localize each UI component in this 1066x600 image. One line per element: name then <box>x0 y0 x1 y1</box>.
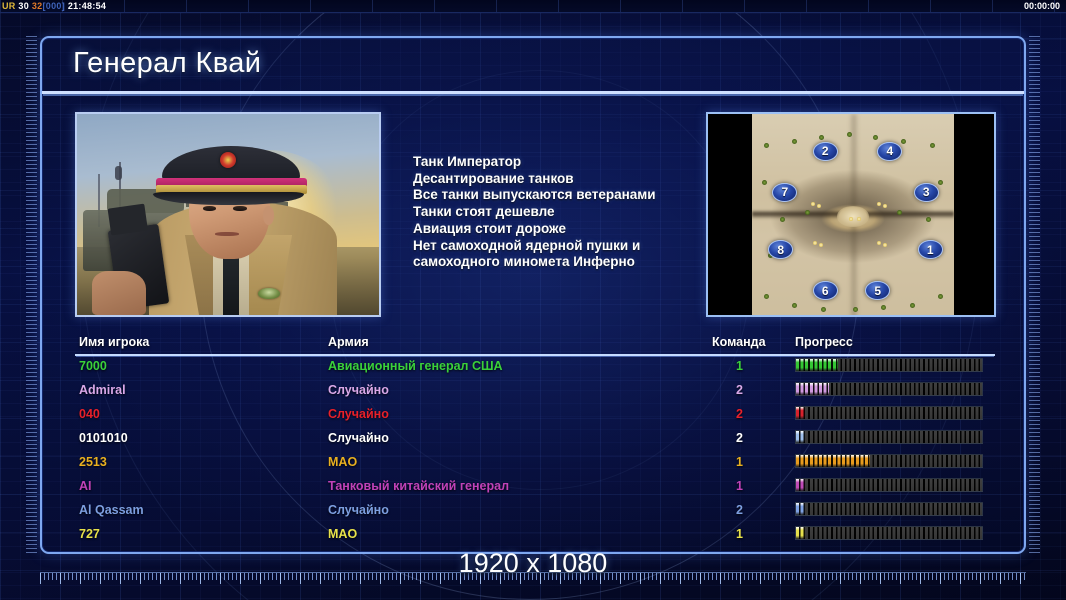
player-progress-bar <box>795 430 983 444</box>
minimap-tree-icon <box>873 135 878 140</box>
minimap-tree-icon <box>792 139 797 144</box>
player-team: 2 <box>736 383 743 397</box>
minimap-resource-icon <box>877 241 881 245</box>
minimap-start-position-3[interactable]: 3 <box>914 183 939 202</box>
bonus-line: самоходного миномета Инферно <box>413 254 713 271</box>
minimap-resource-icon <box>883 204 887 208</box>
player-team: 1 <box>736 527 743 541</box>
table-row[interactable]: AIТанковый китайский генерал1 <box>75 476 995 500</box>
bonus-line: Десантирование танков <box>413 171 713 188</box>
minimap-resource-icon <box>877 202 881 206</box>
player-name: 727 <box>79 527 100 541</box>
resolution-overlay: 1920 x 1080 <box>0 548 1066 579</box>
player-name: 7000 <box>79 359 107 373</box>
portrait-soldier-silhouette <box>115 166 122 180</box>
minimap-tree-icon <box>853 307 858 312</box>
table-row[interactable]: AdmiralСлучайно2 <box>75 380 995 404</box>
player-team: 1 <box>736 455 743 469</box>
player-name: AI <box>79 479 92 493</box>
minimap-tree-icon <box>764 143 769 148</box>
debug-status-text: UR 30 32[000] 21:48:54 <box>2 1 106 11</box>
progress-segments <box>796 359 982 371</box>
bonus-line: Все танки выпускаются ветеранами <box>413 187 713 204</box>
minimap-tree-icon <box>938 294 943 299</box>
minimap-tree-icon <box>780 217 785 222</box>
table-row[interactable]: 0101010Случайно2 <box>75 428 995 452</box>
table-row[interactable]: 7000Авиационный генерал США1 <box>75 356 995 380</box>
bonus-line: Танк Император <box>413 154 713 171</box>
player-army: Случайно <box>328 407 389 421</box>
minimap-tree-icon <box>930 143 935 148</box>
general-tie <box>223 253 238 315</box>
ruler-strip-left <box>26 36 37 554</box>
debug-token-0: UR <box>2 1 16 11</box>
minimap-start-position-4[interactable]: 4 <box>877 142 902 161</box>
table-header-row: Имя игрока Армия Команда Прогресс <box>75 334 995 356</box>
general-chest-badge-icon <box>258 288 280 299</box>
progress-segments <box>796 431 982 443</box>
player-progress-bar <box>795 502 983 516</box>
main-panel: Генерал Квай <box>40 36 1026 554</box>
player-army: Случайно <box>328 383 389 397</box>
player-name: 2513 <box>79 455 107 469</box>
minimap-tree-icon <box>819 135 824 140</box>
player-team: 2 <box>736 503 743 517</box>
player-progress-bar <box>795 358 983 372</box>
player-progress-bar <box>795 526 983 540</box>
player-table: Имя игрока Армия Команда Прогресс 7000Ав… <box>75 334 995 548</box>
minimap-tree-icon <box>881 305 886 310</box>
player-team: 1 <box>736 359 743 373</box>
minimap-resource-icon <box>857 217 861 221</box>
minimap-resource-icon <box>811 202 815 206</box>
minimap-terrain: 24738165 <box>752 114 954 317</box>
minimap-start-position-2[interactable]: 2 <box>813 142 838 161</box>
minimap-tree-icon <box>764 294 769 299</box>
player-army: Танковый китайский генерал <box>328 479 509 493</box>
debug-token-1: 30 <box>18 1 29 11</box>
player-name: Admiral <box>79 383 126 397</box>
page-title: Генерал Квай <box>73 47 261 80</box>
minimap-tree-icon <box>938 180 943 185</box>
player-team: 2 <box>736 407 743 421</box>
minimap-resource-icon <box>883 243 887 247</box>
minimap-resource-icon <box>819 243 823 247</box>
minimap-resource-icon <box>849 217 853 221</box>
minimap-tree-icon <box>901 139 906 144</box>
minimap-tree-icon <box>762 180 767 185</box>
debug-token-4: 21:48:54 <box>68 1 106 11</box>
minimap-tree-icon <box>926 217 931 222</box>
player-army: Случайно <box>328 503 389 517</box>
minimap-start-position-5[interactable]: 5 <box>865 281 890 300</box>
progress-segments <box>796 455 982 467</box>
bonus-line: Нет самоходной ядерной пушки и <box>413 238 713 255</box>
player-army: MAO <box>328 455 357 469</box>
portrait-artwork <box>77 114 379 315</box>
minimap-resource-icon <box>817 204 821 208</box>
ruler-strip-right <box>1029 36 1040 554</box>
minimap-tree-icon <box>910 303 915 308</box>
player-progress-bar <box>795 382 983 396</box>
table-row[interactable]: 2513MAO1 <box>75 452 995 476</box>
minimap-start-position-6[interactable]: 6 <box>813 281 838 300</box>
player-name: 040 <box>79 407 100 421</box>
minimap-start-position-1[interactable]: 1 <box>918 240 943 259</box>
general-portrait <box>75 112 381 317</box>
table-row[interactable]: 040Случайно2 <box>75 404 995 428</box>
column-header-progress: Прогресс <box>795 335 853 349</box>
player-name: 0101010 <box>79 431 128 445</box>
progress-segments <box>796 383 982 395</box>
player-team: 2 <box>736 431 743 445</box>
table-row[interactable]: Al QassamСлучайно2 <box>75 500 995 524</box>
player-army: MAO <box>328 527 357 541</box>
debug-token-3: [000] <box>42 1 65 11</box>
general-eye-left <box>203 206 217 211</box>
general-eye-right <box>233 206 247 211</box>
minimap-resource-icon <box>813 241 817 245</box>
player-progress-bar <box>795 454 983 468</box>
minimap: 24738165 <box>706 112 996 317</box>
panel-header: Генерал Квай <box>42 38 1024 94</box>
player-team: 1 <box>736 479 743 493</box>
progress-segments <box>796 527 982 539</box>
minimap-center-clearing <box>837 206 869 227</box>
player-progress-bar <box>795 478 983 492</box>
column-header-team: Команда <box>712 335 766 349</box>
minimap-tree-icon <box>792 303 797 308</box>
column-header-army: Армия <box>328 335 369 349</box>
minimap-start-position-7[interactable]: 7 <box>772 183 797 202</box>
general-hand <box>92 271 146 315</box>
top-status-bar: UR 30 32[000] 21:48:54 00:00:00 <box>0 0 1066 13</box>
column-header-name: Имя игрока <box>79 335 149 349</box>
minimap-start-position-8[interactable]: 8 <box>768 240 793 259</box>
progress-segments <box>796 479 982 491</box>
table-row[interactable]: 727MAO1 <box>75 524 995 548</box>
bonus-line: Авиация стоит дороже <box>413 221 713 238</box>
bonus-line: Танки стоят дешевле <box>413 204 713 221</box>
loading-screen: UR 30 32[000] 21:48:54 00:00:00 Генерал … <box>0 0 1066 600</box>
topbar-grid <box>0 0 1066 12</box>
player-name: Al Qassam <box>79 503 144 517</box>
player-progress-bar <box>795 406 983 420</box>
match-timer: 00:00:00 <box>1024 1 1060 11</box>
minimap-tree-icon <box>805 210 810 215</box>
progress-segments <box>796 503 982 515</box>
minimap-tree-icon <box>821 307 826 312</box>
debug-token-2: 32 <box>32 1 43 11</box>
progress-segments <box>796 407 982 419</box>
player-army: Случайно <box>328 431 389 445</box>
general-mouth <box>215 232 239 236</box>
general-bonus-list: Танк Император Десантирование танков Все… <box>413 154 713 271</box>
player-army: Авиационный генерал США <box>328 359 503 373</box>
table-body: 7000Авиационный генерал США1AdmiralСлуча… <box>75 356 995 548</box>
